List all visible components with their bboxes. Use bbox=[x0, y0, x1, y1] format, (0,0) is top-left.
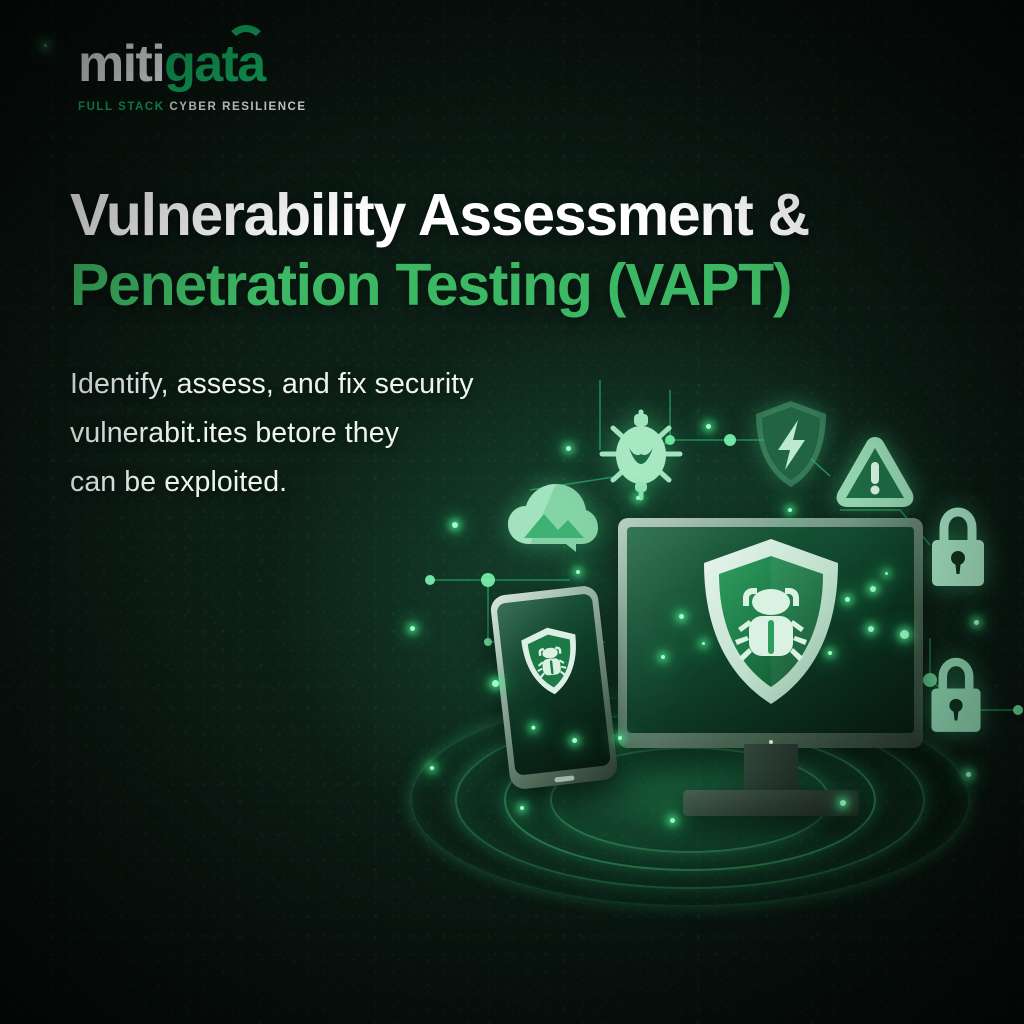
vapt-promo-banner: mitigata FULL STACK CYBER RESILIENCE Vul… bbox=[0, 0, 1024, 1024]
vignette-overlay bbox=[0, 0, 1024, 1024]
